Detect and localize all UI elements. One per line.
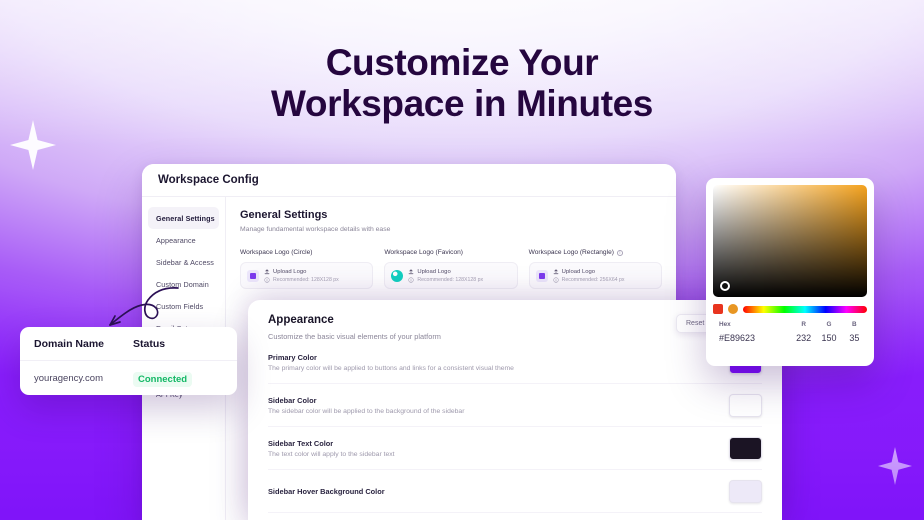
color-setting-row: Sidebar Hover Background Color (268, 470, 762, 513)
logo-rectangle-upload-line: Upload Logo (553, 269, 625, 275)
logo-circle-label: Workspace Logo (Circle) (240, 249, 373, 256)
hero-headline: Customize Your Workspace in Minutes (0, 42, 924, 124)
g-field-label: G (816, 321, 841, 328)
logo-upload-row: Workspace Logo (Circle) Upload Logo (240, 249, 662, 289)
sidebar-color-swatch[interactable] (729, 394, 762, 417)
logo-favicon-recommended: Recommended: 128X128 px (417, 277, 483, 283)
sparkle-decoration-right (878, 447, 912, 485)
sidebar-item-appearance[interactable]: Appearance (148, 229, 219, 251)
general-settings-subtitle: Manage fundamental workspace details wit… (240, 226, 662, 233)
hue-strip-row (713, 304, 867, 314)
table-row[interactable]: youragency.com Connected (20, 361, 237, 395)
hex-input[interactable]: #E89623 (713, 333, 791, 343)
r-field-label: R (791, 321, 816, 328)
info-icon (553, 277, 559, 283)
info-icon (408, 277, 414, 283)
favicon-preview-icon (391, 270, 403, 282)
color-setting-row: Primary Color The primary color will be … (268, 341, 762, 384)
g-input[interactable]: 150 (816, 333, 841, 343)
logo-rectangle-dropzone[interactable]: Upload Logo Recommended: 256X64 px (529, 262, 662, 289)
color-picker-popover: Hex R G B #E89623 232 150 35 (706, 178, 874, 366)
logo-favicon-upload-label: Upload Logo (417, 269, 450, 275)
upload-icon (553, 269, 559, 275)
hero-headline-line-2: Workspace in Minutes (0, 83, 924, 124)
hue-slider[interactable] (743, 306, 867, 313)
saturation-value-area[interactable] (713, 185, 867, 297)
color-setting-text: Sidebar Text Color The text color will a… (268, 439, 395, 458)
domain-status-header: Status (133, 338, 223, 350)
domain-name-header: Domain Name (34, 338, 133, 350)
logo-circle-texts: Upload Logo Recommended: 128X128 px (264, 269, 339, 283)
logo-rectangle-texts: Upload Logo Recommended: 256X64 px (553, 269, 625, 283)
color-picker-handle[interactable] (720, 281, 730, 291)
color-setting-row: Sidebar Color The sidebar color will be … (268, 384, 762, 427)
logo-circle-upload-line: Upload Logo (264, 269, 339, 275)
logo-upload-favicon: Workspace Logo (Favicon) Upload Logo (384, 249, 517, 289)
logo-favicon-label: Workspace Logo (Favicon) (384, 249, 517, 256)
image-placeholder-icon (247, 270, 259, 282)
color-setting-text: Sidebar Hover Background Color (268, 487, 385, 496)
sparkle-decoration-left (10, 120, 56, 170)
sidebar-hover-bg-color-label: Sidebar Hover Background Color (268, 487, 385, 496)
domain-name-value: youragency.com (34, 373, 133, 384)
primary-color-description: The primary color will be applied to but… (268, 365, 514, 372)
previous-color-dot[interactable] (713, 304, 723, 314)
sidebar-color-label: Sidebar Color (268, 396, 464, 405)
sidebar-text-color-label: Sidebar Text Color (268, 439, 395, 448)
logo-circle-recommended: Recommended: 128X128 px (273, 277, 339, 283)
logo-circle-dropzone[interactable]: Upload Logo Recommended: 128X128 px (240, 262, 373, 289)
sidebar-text-color-description: The text color will apply to the sidebar… (268, 451, 395, 458)
logo-rectangle-label-text: Workspace Logo (Rectangle) (529, 249, 614, 256)
logo-favicon-texts: Upload Logo Recommended: 128X128 px (408, 269, 483, 283)
logo-favicon-upload-line: Upload Logo (408, 269, 483, 275)
arrow-annotation-icon (98, 278, 184, 338)
workspace-config-titlebar: Workspace Config (142, 164, 676, 197)
logo-rectangle-recommended: Recommended: 256X64 px (562, 277, 625, 283)
upload-icon (264, 269, 270, 275)
sidebar-color-description: The sidebar color will be applied to the… (268, 408, 464, 415)
color-setting-text: Primary Color The primary color will be … (268, 353, 514, 372)
logo-rectangle-upload-label: Upload Logo (562, 269, 595, 275)
upload-icon (408, 269, 414, 275)
logo-circle-label-text: Workspace Logo (Circle) (240, 249, 312, 256)
color-setting-text: Sidebar Color The sidebar color will be … (268, 396, 464, 415)
sidebar-item-sidebar-access[interactable]: Sidebar & Access (148, 251, 219, 273)
logo-circle-upload-label: Upload Logo (273, 269, 306, 275)
domain-status-cell: Connected (133, 369, 223, 387)
logo-favicon-rec-line: Recommended: 128X128 px (408, 277, 483, 283)
general-settings-title: General Settings (240, 209, 662, 221)
info-icon[interactable]: i (617, 250, 623, 256)
logo-upload-rectangle: Workspace Logo (Rectangle) i Upload (529, 249, 662, 289)
logo-favicon-dropzone[interactable]: Upload Logo Recommended: 128X128 px (384, 262, 517, 289)
color-field-values: #E89623 232 150 35 (713, 333, 867, 343)
b-field-label: B (842, 321, 867, 328)
logo-rectangle-label: Workspace Logo (Rectangle) i (529, 249, 662, 256)
current-color-dot[interactable] (728, 304, 738, 314)
sidebar-hover-bg-color-swatch[interactable] (729, 480, 762, 503)
logo-favicon-label-text: Workspace Logo (Favicon) (384, 249, 463, 256)
logo-upload-circle: Workspace Logo (Circle) Upload Logo (240, 249, 373, 289)
image-placeholder-icon (536, 270, 548, 282)
sidebar-text-color-swatch[interactable] (729, 437, 762, 460)
status-badge: Connected (133, 372, 192, 387)
logo-rectangle-rec-line: Recommended: 256X64 px (553, 277, 625, 283)
promo-stage: Customize Your Workspace in Minutes Work… (0, 0, 924, 520)
r-input[interactable]: 232 (791, 333, 816, 343)
workspace-config-title: Workspace Config (158, 174, 259, 186)
color-field-headers: Hex R G B (713, 321, 867, 328)
appearance-panel: Appearance Customize the basic visual el… (248, 300, 782, 520)
primary-color-label: Primary Color (268, 353, 514, 362)
b-input[interactable]: 35 (842, 333, 867, 343)
color-setting-row: Sidebar Text Color The text color will a… (268, 427, 762, 470)
appearance-subtitle: Customize the basic visual elements of y… (268, 332, 762, 341)
info-icon (264, 277, 270, 283)
hero-headline-line-1: Customize Your (326, 42, 599, 83)
sidebar-item-general-settings[interactable]: General Settings (148, 207, 219, 229)
hex-field-label: Hex (713, 321, 791, 328)
logo-circle-rec-line: Recommended: 128X128 px (264, 277, 339, 283)
